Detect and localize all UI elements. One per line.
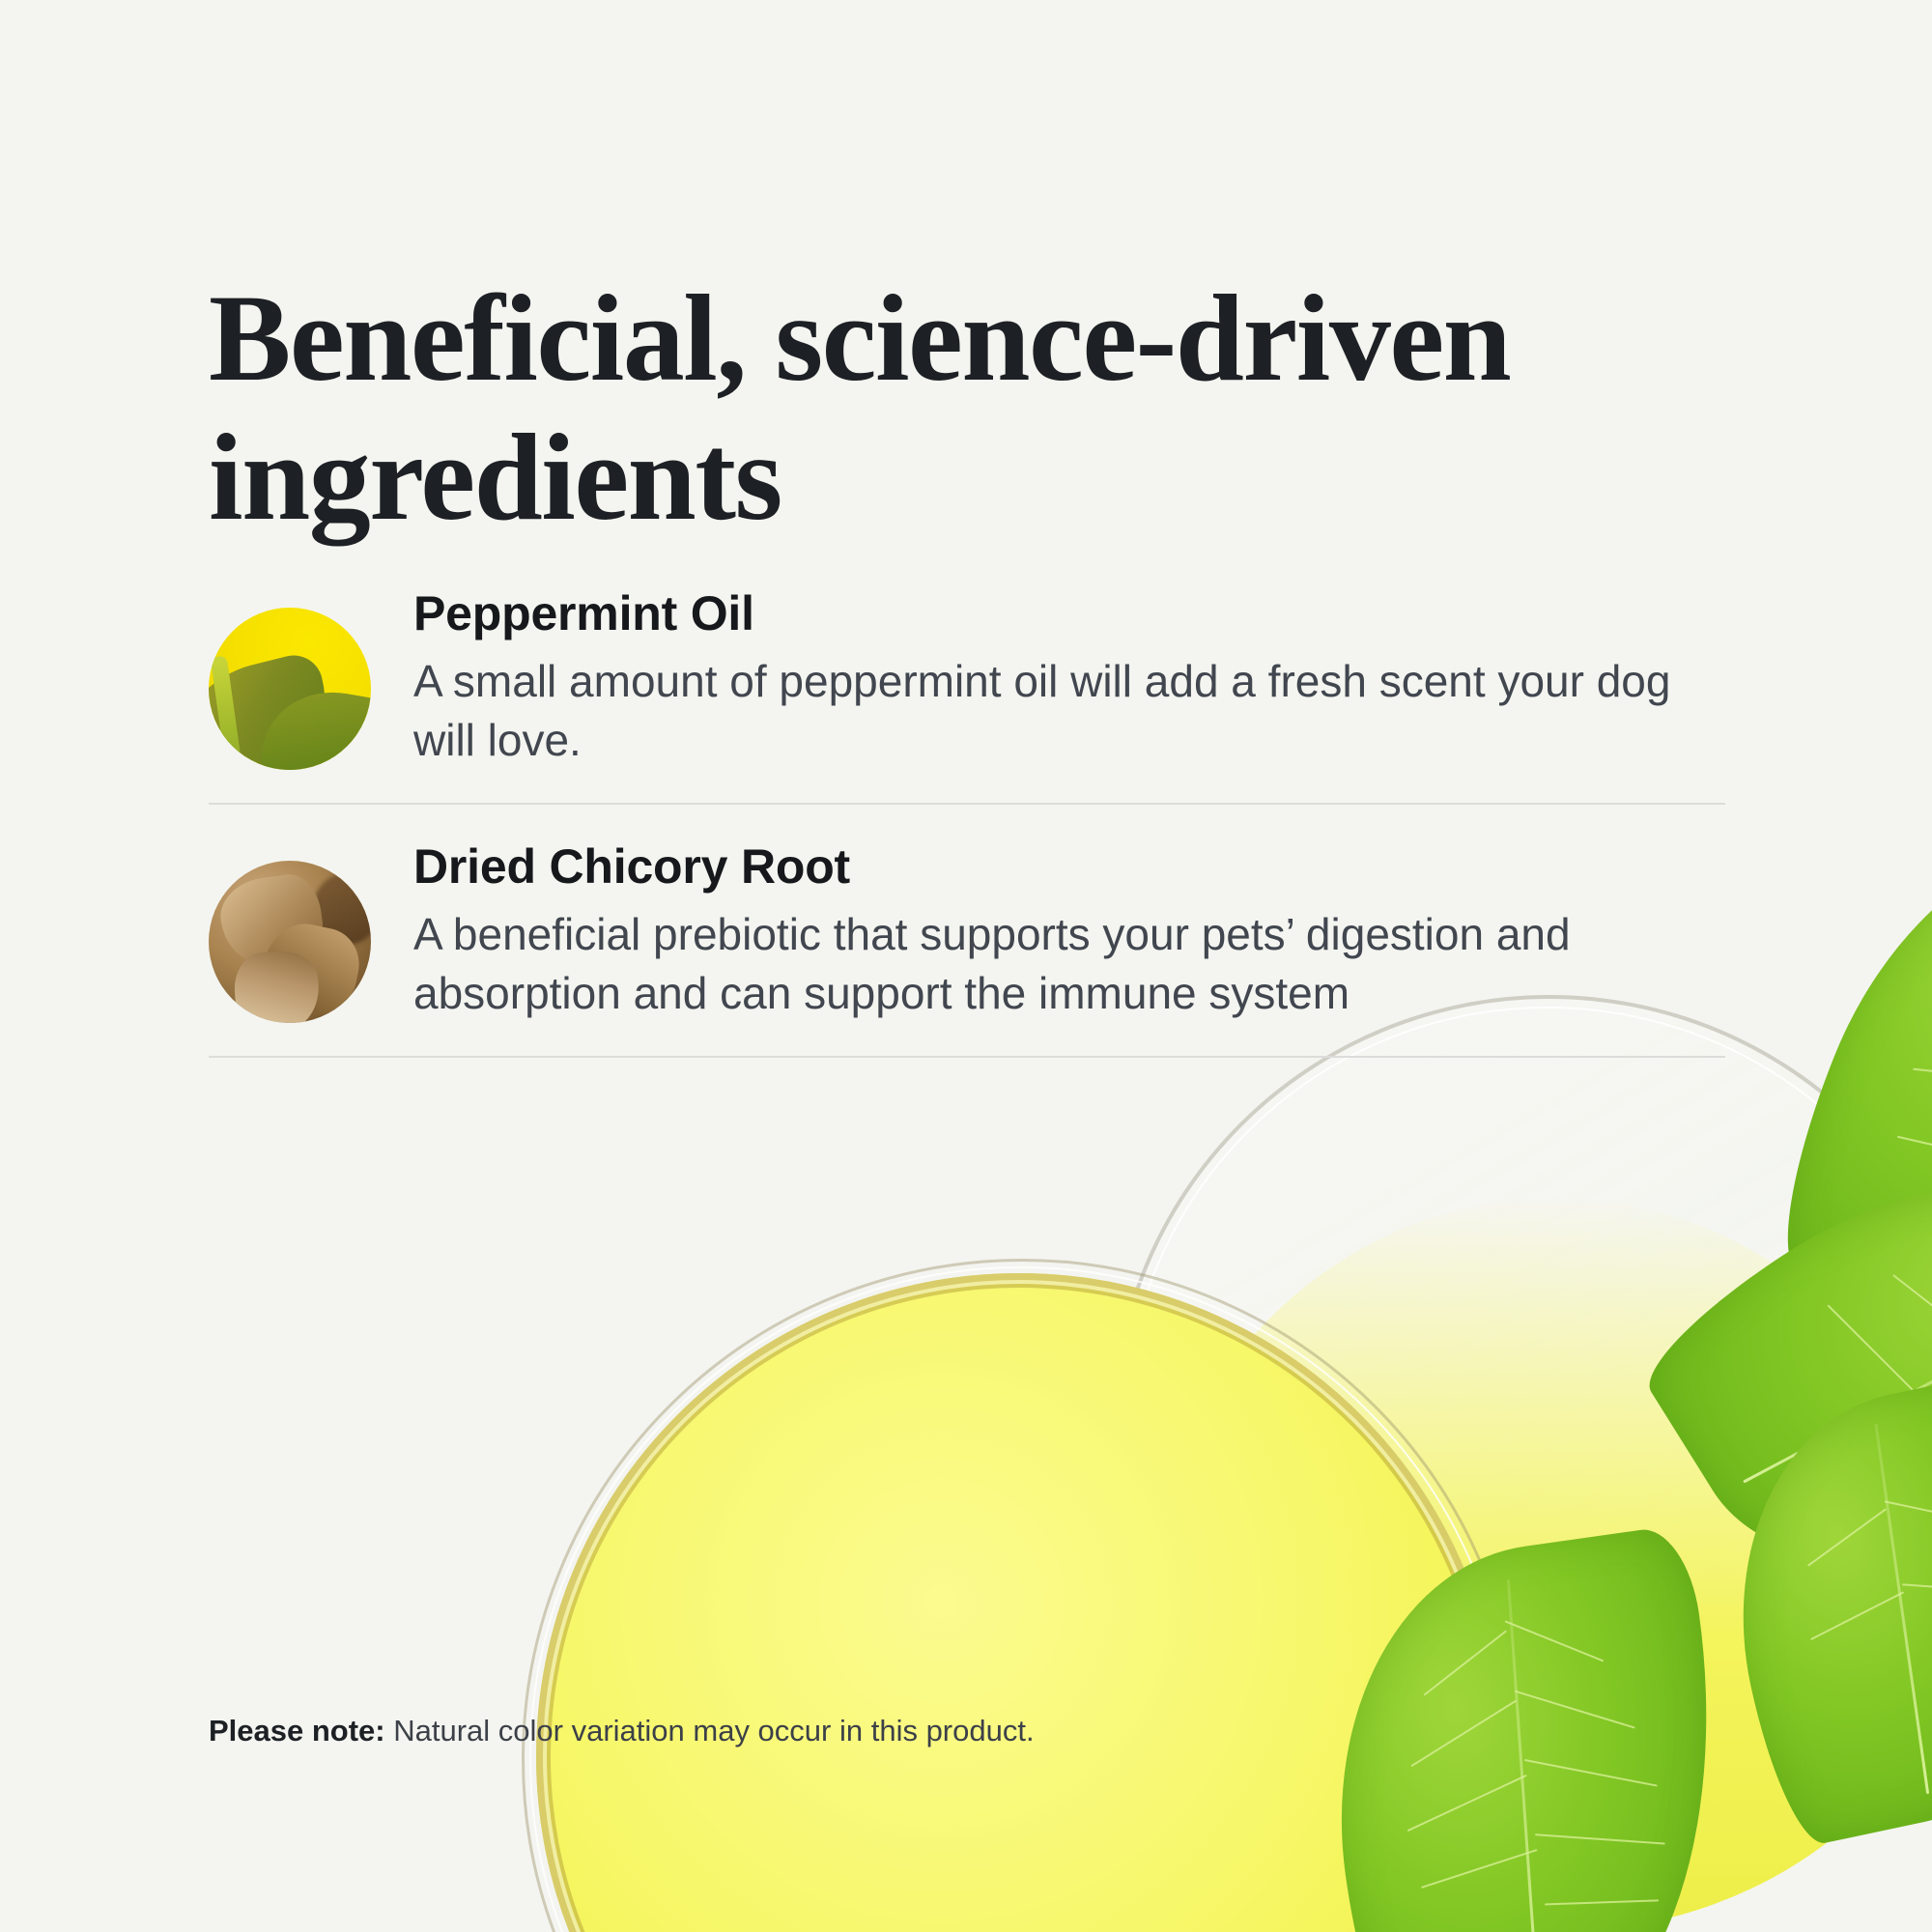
divider xyxy=(209,1056,1725,1058)
ingredient-description: A beneficial prebiotic that supports you… xyxy=(413,905,1725,1022)
content-layer: Beneficial, science-driven ingredients P… xyxy=(0,0,1932,1932)
footnote-label: Please note: xyxy=(209,1714,385,1747)
ingredient-text: Peppermint Oil A small amount of pepperm… xyxy=(371,584,1725,769)
ingredients-panel: Beneficial, science-driven ingredients P… xyxy=(0,0,1932,1932)
list-item: Peppermint Oil A small amount of pepperm… xyxy=(209,584,1725,803)
dried-chicory-root-thumbnail xyxy=(209,861,371,1023)
ingredient-title: Dried Chicory Root xyxy=(413,838,1725,895)
footnote-text: Natural color variation may occur in thi… xyxy=(385,1714,1035,1747)
page-title: Beneficial, science-driven ingredients xyxy=(209,269,1561,548)
footnote: Please note: Natural color variation may… xyxy=(209,1712,1035,1750)
ingredient-description: A small amount of peppermint oil will ad… xyxy=(413,652,1725,769)
ingredient-title: Peppermint Oil xyxy=(413,584,1725,642)
list-item: Dried Chicory Root A beneficial prebioti… xyxy=(209,805,1725,1056)
peppermint-oil-thumbnail xyxy=(209,608,371,770)
ingredient-list: Peppermint Oil A small amount of pepperm… xyxy=(209,584,1725,1058)
ingredient-text: Dried Chicory Root A beneficial prebioti… xyxy=(371,838,1725,1022)
